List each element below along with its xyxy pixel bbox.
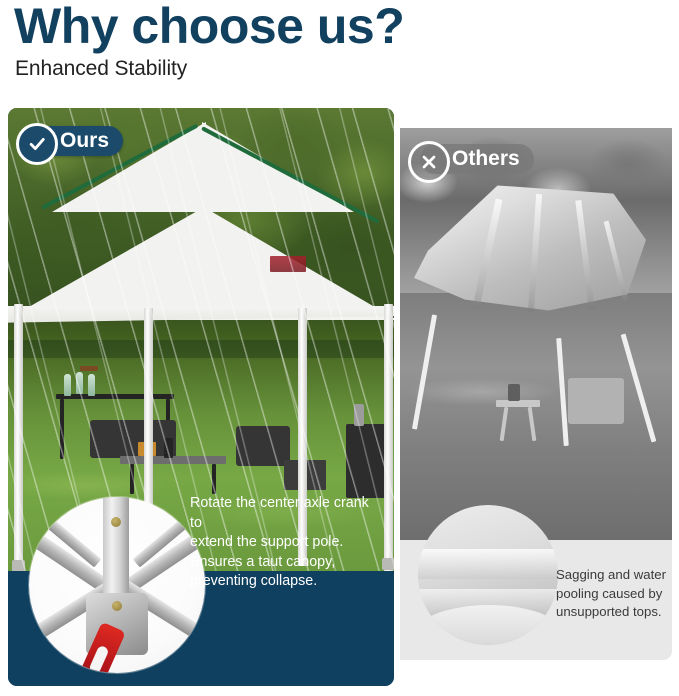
red-crank-handle <box>75 622 126 673</box>
bottle-1 <box>64 374 71 396</box>
canopy-leg-4 <box>384 304 393 571</box>
tabletop-item-dark <box>164 438 173 458</box>
patio-chair-right <box>236 426 290 466</box>
patio-coffee-table <box>120 456 226 464</box>
bw-collapsed-chair <box>568 378 624 424</box>
badge-others: Others <box>420 144 534 174</box>
coffee-table-leg-a <box>130 464 134 494</box>
coffee-table-leg-b <box>212 464 216 494</box>
others-photo <box>400 128 672 540</box>
check-circle-icon <box>16 123 58 165</box>
page-subtitle: Enhanced Stability <box>15 57 187 81</box>
crank-grip-opening <box>88 645 109 673</box>
ours-caption: Rotate the center axle crank to extend t… <box>190 494 380 592</box>
sag-fabric-band-upper <box>418 549 558 579</box>
patio-table-back <box>56 394 174 399</box>
ours-detail-inset <box>29 497 205 673</box>
header: Why choose us? Enhanced Stability <box>0 0 679 104</box>
hub-bolt-top <box>111 517 121 527</box>
bottle-2 <box>76 372 83 394</box>
canopy-foot-4 <box>382 558 394 570</box>
patio-table-back-leg-a <box>60 399 64 459</box>
canopy-leg-1 <box>14 304 23 571</box>
brand-logo <box>270 256 306 272</box>
hub-bolt-center <box>112 601 122 611</box>
badge-ours: Ours <box>28 126 123 156</box>
bar-stool <box>80 366 98 371</box>
canopy-foot-1 <box>12 560 25 571</box>
badge-others-label: Others <box>452 147 520 171</box>
others-caption: Sagging and water pooling caused by unsu… <box>556 566 676 622</box>
x-circle-icon <box>408 141 450 183</box>
support-pole <box>103 497 129 605</box>
bw-folding-table <box>496 400 540 407</box>
others-detail-inset <box>418 505 558 645</box>
bw-lawn <box>400 293 672 540</box>
bottle-3 <box>88 374 95 396</box>
bw-kettle <box>508 384 520 401</box>
canopy-slope-left <box>8 206 206 320</box>
page-title: Why choose us? <box>14 0 404 54</box>
thermos <box>354 404 364 426</box>
badge-ours-label: Ours <box>60 129 109 153</box>
